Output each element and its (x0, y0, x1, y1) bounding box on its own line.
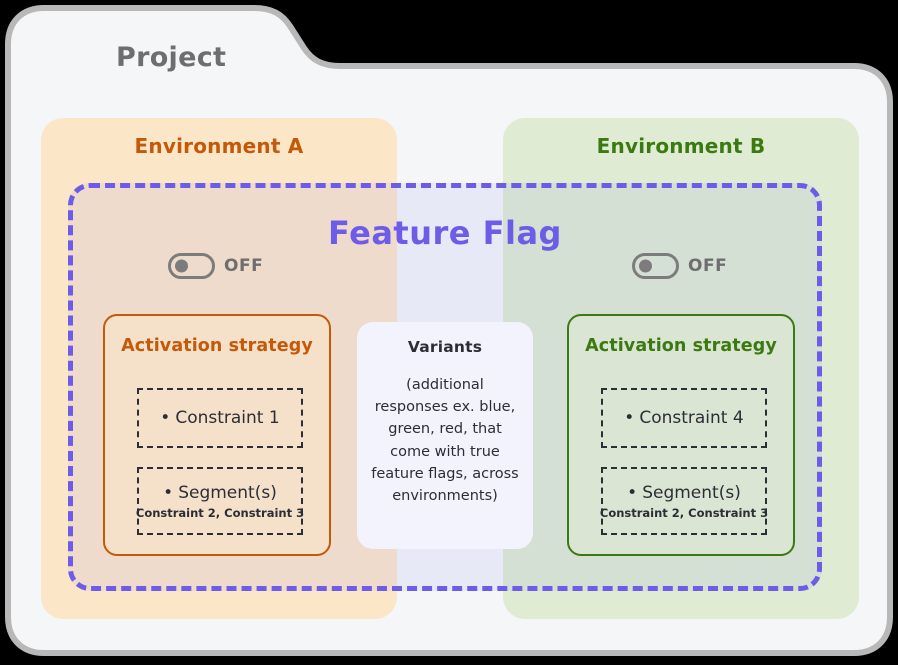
activation-strategy-b-title: Activation strategy (569, 336, 793, 356)
feature-toggle-environment-a[interactable]: OFF (168, 253, 263, 279)
constraint-label: Constraint 4 (639, 408, 743, 428)
toggle-off-icon[interactable] (632, 253, 679, 279)
feature-flag-title: Feature Flag (73, 214, 817, 252)
variants-title: Variants (369, 338, 521, 356)
toggle-a-label: OFF (224, 256, 263, 276)
toggle-off-icon[interactable] (168, 253, 215, 279)
bullet-icon: • (624, 408, 634, 428)
activation-strategy-card-b: Activation strategy •Constraint 4 •Segme… (567, 314, 795, 556)
toggle-b-label: OFF (688, 256, 727, 276)
activation-strategy-card-a: Activation strategy •Constraint 1 •Segme… (103, 314, 331, 556)
segment-box: •Segment(s) Constraint 2, Constraint 3 (137, 467, 303, 535)
constraint-box: •Constraint 4 (601, 388, 767, 448)
environment-a-title: Environment A (41, 134, 397, 158)
segment-constraints-sublabel: Constraint 2, Constraint 3 (136, 506, 304, 520)
variants-card: Variants (additional responses ex. blue,… (357, 322, 533, 549)
feature-toggle-environment-b[interactable]: OFF (632, 253, 727, 279)
toggle-knob (639, 260, 652, 273)
bullet-icon: • (163, 483, 173, 503)
segment-label-wrap: •Segment(s) (627, 483, 741, 503)
page-title: Project (116, 42, 226, 73)
segment-box: •Segment(s) Constraint 2, Constraint 3 (601, 467, 767, 535)
environment-b-title: Environment B (503, 134, 859, 158)
constraint-label: Constraint 1 (175, 408, 279, 428)
segment-label-wrap: •Segment(s) (163, 483, 277, 503)
bullet-icon: • (160, 408, 170, 428)
bullet-icon: • (627, 483, 637, 503)
toggle-knob (175, 260, 188, 273)
segment-label: Segment(s) (178, 483, 277, 503)
segment-constraints-sublabel: Constraint 2, Constraint 3 (600, 506, 768, 520)
constraint-label-wrap: •Constraint 1 (160, 408, 279, 428)
segment-label: Segment(s) (642, 483, 741, 503)
constraint-box: •Constraint 1 (137, 388, 303, 448)
variants-description: (additional responses ex. blue, green, r… (369, 374, 521, 507)
diagram-canvas: Project Environment A Environment B Feat… (0, 0, 898, 665)
constraint-label-wrap: •Constraint 4 (624, 408, 743, 428)
activation-strategy-a-title: Activation strategy (105, 336, 329, 356)
